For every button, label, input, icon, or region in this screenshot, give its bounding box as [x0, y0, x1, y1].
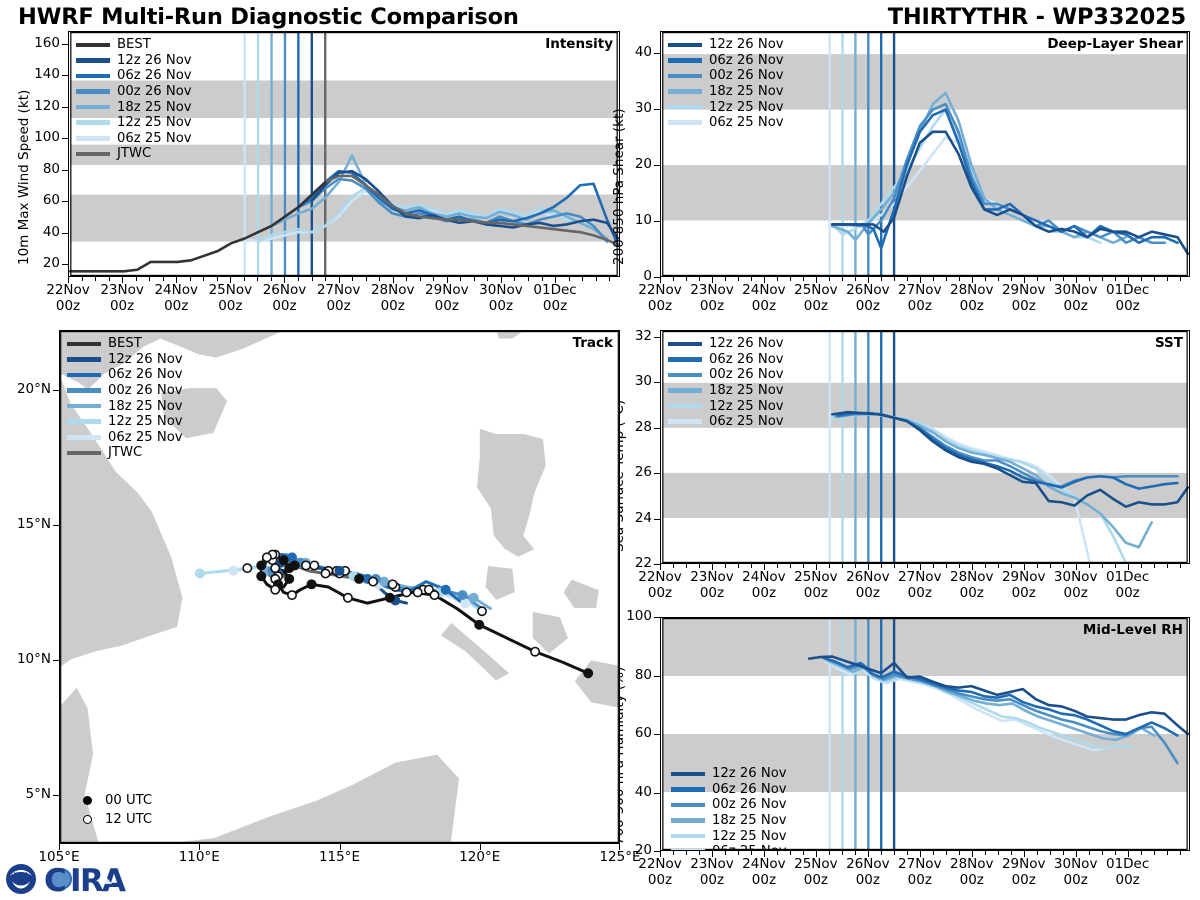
y-tick-mark: [654, 519, 660, 520]
x-minor-tick: [1154, 851, 1155, 855]
legend-item[interactable]: 06z 25 Nov: [668, 115, 784, 131]
x-minor-tick: [972, 564, 973, 568]
x-minor-tick: [1076, 851, 1077, 855]
legend-item[interactable]: BEST: [67, 336, 183, 352]
legend-item[interactable]: 12z 26 Nov: [67, 352, 183, 368]
legend-label: BEST: [117, 38, 151, 51]
y-tick-mark: [62, 138, 68, 139]
x-minor-tick: [1167, 851, 1168, 855]
x-minor-tick: [1180, 277, 1181, 281]
track-point-12utc: [369, 577, 377, 585]
track-legend: BEST12z 26 Nov06z 26 Nov00z 26 Nov18z 25…: [67, 336, 183, 461]
legend-swatch: [67, 404, 101, 409]
marker-legend-label: 12 UTC: [105, 812, 152, 827]
x-minor-tick: [777, 564, 778, 568]
legend-swatch: [668, 120, 702, 125]
x-minor-tick: [298, 277, 299, 281]
legend-label: JTWC: [117, 147, 151, 160]
track-point-00utc: [385, 593, 395, 603]
legend-swatch: [67, 357, 101, 362]
x-minor-tick: [803, 277, 804, 281]
x-minor-tick: [136, 277, 137, 281]
x-minor-tick: [907, 851, 908, 855]
x-minor-tick: [751, 851, 752, 855]
x-minor-tick: [881, 851, 882, 855]
x-minor-tick: [420, 277, 421, 281]
x-minor-tick: [447, 277, 448, 281]
x-minor-tick: [284, 277, 285, 281]
x-tick-hour: 00z: [1012, 298, 1036, 314]
x-tick-label: 01Dec00z: [1088, 283, 1168, 315]
x-tick-hour: 00z: [700, 872, 724, 888]
y-tick-mark: [654, 53, 660, 54]
track-point-12utc: [430, 591, 438, 599]
x-minor-tick: [842, 564, 843, 568]
x-minor-tick: [257, 277, 258, 281]
x-tick-hour: 00z: [752, 298, 776, 314]
y-tick-label: 30: [608, 100, 652, 116]
y-tick-label: 80: [16, 161, 60, 177]
x-tick-hour: 00z: [1116, 298, 1140, 314]
x-minor-tick: [894, 851, 895, 855]
legend-swatch: [668, 89, 702, 94]
x-minor-tick: [555, 277, 556, 281]
legend-label: 12z 25 Nov: [712, 830, 787, 843]
legend-item[interactable]: 18z 25 Nov: [668, 84, 784, 100]
x-tick-hour: 00z: [752, 872, 776, 888]
legend-label: JTWC: [108, 446, 142, 459]
legend-label: 12z 26 Nov: [117, 54, 192, 67]
x-tick-date: 01Dec: [533, 282, 576, 298]
x-minor-tick: [868, 277, 869, 281]
x-minor-tick: [673, 564, 674, 568]
track-point-12utc: [321, 569, 329, 577]
track-point-00utc: [290, 560, 300, 570]
legend-item[interactable]: JTWC: [76, 146, 192, 162]
x-minor-tick: [271, 277, 272, 281]
lat-tick-label: 5°N: [0, 786, 51, 802]
x-minor-tick: [660, 277, 661, 281]
x-minor-tick: [816, 277, 817, 281]
legend-item[interactable]: 12z 25 Nov: [668, 398, 784, 414]
legend-swatch: [668, 373, 702, 378]
x-tick-hour: 00z: [908, 585, 932, 601]
legend-swatch: [671, 834, 705, 839]
lon-tick-mark: [59, 844, 60, 850]
x-minor-tick: [1024, 851, 1025, 855]
x-minor-tick: [777, 851, 778, 855]
legend-swatch: [671, 772, 705, 777]
legend-label: 06z 26 Nov: [108, 368, 183, 381]
x-minor-tick: [816, 851, 817, 855]
x-minor-tick: [325, 277, 326, 281]
intensity-panel-label: Intensity: [545, 36, 613, 52]
x-tick-hour: 00z: [435, 298, 459, 314]
x-minor-tick: [433, 277, 434, 281]
x-minor-tick: [920, 277, 921, 281]
x-tick-hour: 00z: [856, 298, 880, 314]
x-tick-hour: 00z: [56, 298, 80, 314]
legend-label: 18z 25 Nov: [117, 101, 192, 114]
legend-swatch: [668, 357, 702, 362]
x-minor-tick: [673, 851, 674, 855]
x-minor-tick: [1102, 851, 1103, 855]
x-minor-tick: [1115, 277, 1116, 281]
x-minor-tick: [751, 564, 752, 568]
y-tick-label: 20: [16, 255, 60, 271]
legend-item[interactable]: 18z 25 Nov: [67, 398, 183, 414]
x-minor-tick: [1063, 277, 1064, 281]
legend-item[interactable]: 00z 26 Nov: [668, 367, 784, 383]
x-minor-tick: [1050, 851, 1051, 855]
legend-label: 06z 26 Nov: [709, 353, 784, 366]
lat-tick-mark: [53, 795, 59, 796]
x-minor-tick: [487, 277, 488, 281]
lat-tick-label: 20°N: [0, 381, 51, 397]
x-minor-tick: [790, 277, 791, 281]
x-minor-tick: [1011, 564, 1012, 568]
x-tick-hour: 00z: [648, 298, 672, 314]
legend-item[interactable]: 00z 26 Nov: [671, 797, 787, 813]
legend-item[interactable]: 06z 26 Nov: [67, 367, 183, 383]
x-tick-hour: 00z: [1064, 585, 1088, 601]
x-minor-tick: [1089, 851, 1090, 855]
x-minor-tick: [712, 851, 713, 855]
x-tick-hour: 00z: [272, 298, 296, 314]
x-minor-tick: [829, 277, 830, 281]
legend-item[interactable]: 12z 25 Nov: [67, 414, 183, 430]
x-minor-tick: [920, 564, 921, 568]
x-tick-hour: 00z: [960, 872, 984, 888]
x-minor-tick: [881, 564, 882, 568]
legend-swatch: [76, 152, 110, 157]
x-minor-tick: [920, 851, 921, 855]
x-minor-tick: [1024, 564, 1025, 568]
track-point-12utc: [388, 580, 396, 588]
x-minor-tick: [855, 277, 856, 281]
x-minor-tick: [1011, 277, 1012, 281]
x-tick-hour: 00z: [326, 298, 350, 314]
x-minor-tick: [933, 564, 934, 568]
x-tick-label: 01Dec00z: [1088, 570, 1168, 602]
legend-swatch: [671, 803, 705, 808]
shaded-band: [662, 165, 1188, 220]
x-minor-tick: [998, 277, 999, 281]
x-minor-tick: [163, 277, 164, 281]
legend-label: 06z 26 Nov: [709, 54, 784, 67]
y-tick-mark: [62, 264, 68, 265]
x-minor-tick: [95, 277, 96, 281]
legend-item[interactable]: 12z 26 Nov: [668, 37, 784, 53]
legend-item[interactable]: 06z 26 Nov: [76, 68, 192, 84]
legend-label: 12z 26 Nov: [712, 767, 787, 780]
x-minor-tick: [460, 277, 461, 281]
track-panel-label: Track: [573, 335, 613, 351]
x-minor-tick: [894, 564, 895, 568]
x-minor-tick: [842, 277, 843, 281]
panel-intensity: Intensity BEST12z 26 Nov06z 26 Nov00z 26…: [68, 31, 620, 277]
legend-label: 06z 25 Nov: [712, 845, 787, 851]
x-minor-tick: [660, 564, 661, 568]
x-minor-tick: [582, 277, 583, 281]
x-minor-tick: [1089, 277, 1090, 281]
track-point-00utc: [284, 574, 294, 584]
x-tick-date: 01Dec: [1106, 282, 1149, 298]
legend-label: 06z 25 Nov: [709, 116, 784, 129]
x-tick-hour: 00z: [1012, 585, 1036, 601]
track-point-00utc: [256, 560, 266, 570]
x-minor-tick: [244, 277, 245, 281]
x-minor-tick: [933, 277, 934, 281]
lat-tick-label: 15°N: [0, 516, 51, 532]
marker-dot-filled: [83, 796, 92, 805]
x-minor-tick: [907, 564, 908, 568]
x-minor-tick: [596, 277, 597, 281]
x-minor-tick: [1115, 564, 1116, 568]
x-tick-hour: 00z: [856, 585, 880, 601]
legend-item[interactable]: JTWC: [67, 445, 183, 461]
legend-label: 00z 26 Nov: [108, 384, 183, 397]
legend-swatch: [671, 818, 705, 823]
page-title-left: HWRF Multi-Run Diagnostic Comparison: [18, 4, 519, 30]
x-tick-hour: 00z: [1116, 872, 1140, 888]
track-point-00utc: [457, 590, 467, 600]
x-minor-tick: [686, 564, 687, 568]
y-tick-mark: [654, 382, 660, 383]
legend-label: 06z 26 Nov: [712, 783, 787, 796]
lon-tick-label: 110°E: [154, 850, 244, 866]
y-tick-mark: [654, 165, 660, 166]
track-point-12utc: [302, 561, 310, 569]
lat-tick-mark: [53, 390, 59, 391]
x-minor-tick: [1037, 564, 1038, 568]
x-minor-tick: [790, 851, 791, 855]
y-tick-label: 20: [608, 156, 652, 172]
x-minor-tick: [109, 277, 110, 281]
shaded-band: [70, 195, 618, 242]
y-tick-label: 40: [16, 224, 60, 240]
x-minor-tick: [528, 277, 529, 281]
legend-item[interactable]: 06z 26 Nov: [671, 782, 787, 798]
legend-swatch: [67, 451, 101, 456]
legend-label: 12z 26 Nov: [108, 353, 183, 366]
y-tick-label: 160: [16, 35, 60, 51]
legend-swatch: [76, 74, 110, 79]
legend-item[interactable]: 06z 25 Nov: [67, 430, 183, 446]
svg-text:C: C: [44, 863, 67, 898]
x-minor-tick: [230, 277, 231, 281]
x-minor-tick: [1154, 277, 1155, 281]
x-minor-tick: [1154, 564, 1155, 568]
x-minor-tick: [393, 277, 394, 281]
track-point-00utc: [469, 593, 479, 603]
legend-label: 06z 25 Nov: [117, 132, 192, 145]
rh-legend: 12z 26 Nov06z 26 Nov00z 26 Nov18z 25 Nov…: [671, 766, 787, 851]
x-minor-tick: [1063, 564, 1064, 568]
x-minor-tick: [673, 277, 674, 281]
track-point-00utc: [474, 620, 484, 630]
x-minor-tick: [946, 277, 947, 281]
x-minor-tick: [1050, 564, 1051, 568]
sst-legend: 12z 26 Nov06z 26 Nov00z 26 Nov18z 25 Nov…: [668, 336, 784, 430]
x-minor-tick: [217, 277, 218, 281]
x-minor-tick: [959, 851, 960, 855]
x-minor-tick: [1128, 277, 1129, 281]
x-minor-tick: [1141, 564, 1142, 568]
legend-label: 12z 25 Nov: [709, 101, 784, 114]
x-minor-tick: [514, 277, 515, 281]
x-minor-tick: [712, 564, 713, 568]
track-point-12utc: [271, 564, 279, 572]
legend-label: 00z 26 Nov: [709, 368, 784, 381]
legend-swatch: [67, 435, 101, 440]
x-minor-tick: [829, 851, 830, 855]
legend-label: 06z 25 Nov: [108, 431, 183, 444]
legend-item[interactable]: 06z 26 Nov: [668, 53, 784, 69]
x-tick-label: 01Dec00z: [1088, 857, 1168, 889]
legend-swatch: [668, 43, 702, 48]
x-minor-tick: [816, 564, 817, 568]
lon-tick-mark: [619, 844, 620, 850]
y-tick-mark: [654, 676, 660, 677]
legend-item[interactable]: 06z 25 Nov: [76, 131, 192, 147]
x-minor-tick: [1024, 277, 1025, 281]
x-minor-tick: [1141, 277, 1142, 281]
x-minor-tick: [764, 851, 765, 855]
x-minor-tick: [686, 277, 687, 281]
x-minor-tick: [803, 851, 804, 855]
legend-item[interactable]: 06z 26 Nov: [668, 352, 784, 368]
legend-item[interactable]: 06z 25 Nov: [671, 844, 787, 851]
legend-item[interactable]: 18z 25 Nov: [76, 99, 192, 115]
y-tick-mark: [654, 428, 660, 429]
legend-item[interactable]: 00z 26 Nov: [67, 383, 183, 399]
track-point-12utc: [344, 594, 352, 602]
track-point-00utc: [441, 585, 451, 595]
x-minor-tick: [1115, 851, 1116, 855]
x-tick-hour: 00z: [856, 872, 880, 888]
x-minor-tick: [959, 277, 960, 281]
y-tick-label: 120: [16, 98, 60, 114]
track-point-00utc: [354, 574, 364, 584]
x-minor-tick: [738, 277, 739, 281]
legend-item[interactable]: 12z 26 Nov: [671, 766, 787, 782]
y-tick-mark: [62, 201, 68, 202]
cira-logo: NOAA C I R A: [4, 860, 130, 898]
x-tick-hour: 00z: [110, 298, 134, 314]
legend-item[interactable]: 00z 26 Nov: [668, 68, 784, 84]
x-minor-tick: [1037, 277, 1038, 281]
x-minor-tick: [190, 277, 191, 281]
track-point-12utc: [531, 647, 539, 655]
x-minor-tick: [842, 851, 843, 855]
x-minor-tick: [855, 851, 856, 855]
x-tick-hour: 00z: [1064, 298, 1088, 314]
legend-swatch: [668, 74, 702, 79]
track-point-12utc: [288, 591, 296, 599]
x-minor-tick: [68, 277, 69, 281]
legend-item[interactable]: 06z 25 Nov: [668, 414, 784, 430]
x-minor-tick: [149, 277, 150, 281]
x-minor-tick: [122, 277, 123, 281]
x-tick-hour: 00z: [1012, 872, 1036, 888]
y-tick-mark: [654, 109, 660, 110]
x-minor-tick: [738, 564, 739, 568]
x-tick-hour: 00z: [908, 298, 932, 314]
x-minor-tick: [933, 851, 934, 855]
marker-legend-label: 00 UTC: [105, 793, 152, 808]
legend-item[interactable]: 12z 26 Nov: [668, 336, 784, 352]
legend-item[interactable]: 12z 25 Nov: [668, 99, 784, 115]
y-tick-mark: [654, 221, 660, 222]
legend-item[interactable]: 12z 26 Nov: [76, 53, 192, 69]
y-tick-mark: [654, 734, 660, 735]
legend-swatch: [668, 388, 702, 393]
legend-label: 12z 26 Nov: [709, 337, 784, 350]
x-minor-tick: [894, 277, 895, 281]
x-minor-tick: [959, 564, 960, 568]
lat-tick-label: 10°N: [0, 651, 51, 667]
x-tick-hour: 00z: [752, 585, 776, 601]
x-minor-tick: [1167, 277, 1168, 281]
track-point-12utc: [263, 553, 271, 561]
legend-swatch: [67, 388, 101, 393]
lon-tick-label: 115°E: [295, 850, 385, 866]
track-point-00utc: [583, 668, 593, 678]
x-minor-tick: [907, 277, 908, 281]
x-minor-tick: [803, 564, 804, 568]
legend-item[interactable]: BEST: [76, 37, 192, 53]
x-minor-tick: [1050, 277, 1051, 281]
x-minor-tick: [790, 564, 791, 568]
y-tick-mark: [62, 44, 68, 45]
x-minor-tick: [312, 277, 313, 281]
legend-swatch: [668, 419, 702, 424]
x-minor-tick: [203, 277, 204, 281]
x-minor-tick: [339, 277, 340, 281]
svg-text:R: R: [80, 863, 104, 898]
page-title-right: THIRTYTHR - WP332025: [888, 4, 1186, 30]
x-minor-tick: [946, 564, 947, 568]
x-minor-tick: [751, 277, 752, 281]
legend-item[interactable]: 18z 25 Nov: [668, 383, 784, 399]
legend-swatch: [76, 89, 110, 94]
x-minor-tick: [777, 277, 778, 281]
legend-item[interactable]: 12z 25 Nov: [671, 828, 787, 844]
panel-sst: SST 12z 26 Nov06z 26 Nov00z 26 Nov18z 25…: [660, 330, 1190, 564]
x-minor-tick: [1128, 851, 1129, 855]
legend-item[interactable]: 18z 25 Nov: [671, 813, 787, 829]
legend-item[interactable]: 00z 26 Nov: [76, 84, 192, 100]
shear-y-axis-label: 200-850 hPa Shear (kt): [611, 108, 627, 265]
x-minor-tick: [946, 851, 947, 855]
legend-swatch: [668, 342, 702, 347]
panel-track-map: Track BEST12z 26 Nov06z 26 Nov00z 26 Nov…: [59, 330, 620, 844]
x-minor-tick: [1102, 564, 1103, 568]
y-tick-mark: [654, 617, 660, 618]
y-tick-label: 60: [16, 192, 60, 208]
x-tick-hour: 00z: [164, 298, 188, 314]
x-minor-tick: [725, 564, 726, 568]
x-minor-tick: [738, 851, 739, 855]
legend-item[interactable]: 12z 25 Nov: [76, 115, 192, 131]
track-point-00utc: [256, 571, 266, 581]
legend-swatch: [668, 105, 702, 110]
sst-panel-label: SST: [1155, 335, 1183, 351]
legend-swatch: [76, 136, 110, 141]
y-tick-label: 140: [16, 66, 60, 82]
legend-swatch: [67, 342, 101, 347]
